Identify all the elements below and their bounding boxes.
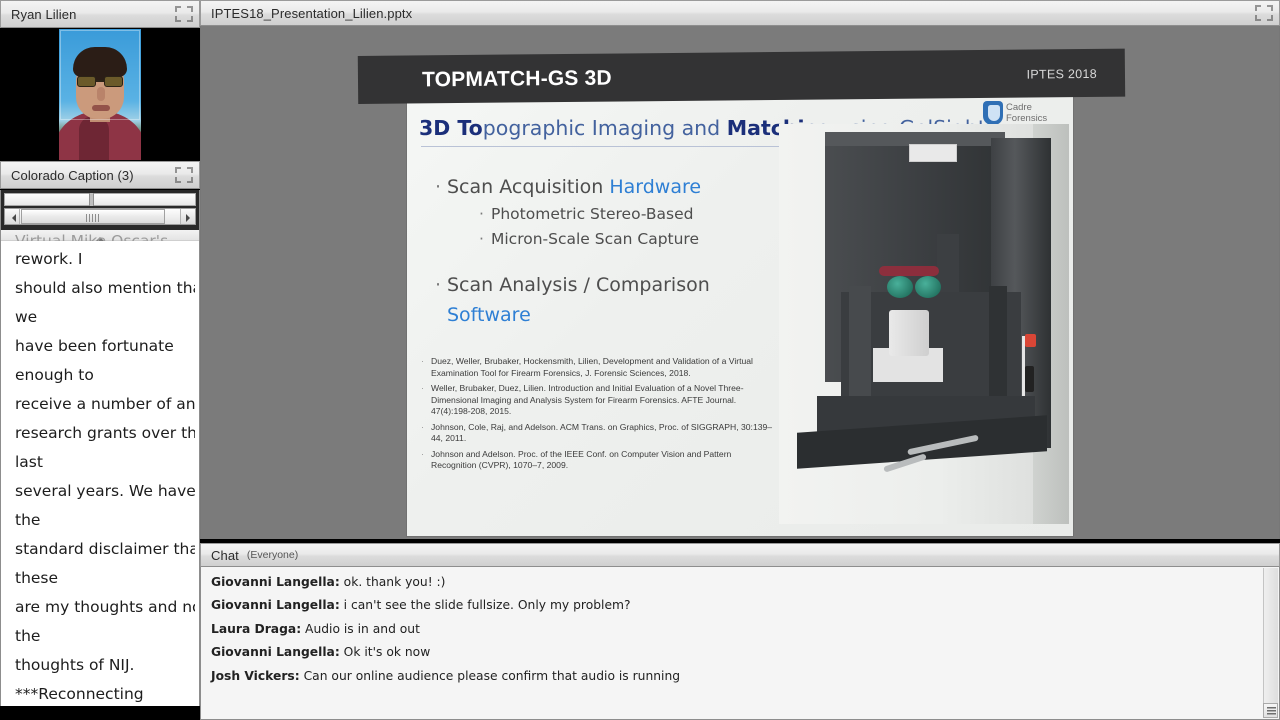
webcam-focus-box	[60, 30, 140, 120]
reference-text: Johnson and Adelson. Proc. of the IEEE C…	[431, 449, 777, 472]
slide-bullet-list: ·Scan Acquisition Hardware ·Photometric …	[435, 172, 805, 330]
left-arrow-icon[interactable]	[5, 209, 20, 224]
expand-icon[interactable]	[175, 6, 193, 22]
expand-icon[interactable]	[1255, 5, 1273, 21]
bullet-text: Scan Analysis / Comparison	[447, 274, 710, 296]
caption-pod-title: Colorado Caption (3)	[11, 168, 134, 183]
share-pod-header: IPTES18_Presentation_Lilien.pptx	[200, 0, 1280, 26]
cadre-logo-line1: Cadre	[1006, 102, 1032, 113]
chat-text: Can our online audience please confirm t…	[300, 669, 680, 683]
caption-line: thoughts of NIJ.	[15, 654, 195, 676]
caption-line: we	[15, 306, 195, 328]
chat-message: Laura Draga: Audio is in and out	[211, 622, 1263, 637]
chat-sender: Laura Draga:	[211, 622, 301, 636]
reference-text: Johnson, Cole, Raj, and Adelson. ACM Tra…	[431, 422, 777, 445]
chat-sender: Giovanni Langella:	[211, 645, 340, 659]
bullet-dot-icon: ·	[421, 356, 431, 379]
scrollbar-thumb[interactable]	[21, 209, 165, 224]
bullet-dot-icon: ·	[479, 227, 491, 252]
chat-message-area[interactable]: Giovanni Langella: ok. thank you! :) Gio…	[200, 567, 1280, 720]
bullet-dot-icon: ·	[435, 270, 447, 300]
caption-line: the	[15, 509, 195, 531]
caption-scroll-area	[0, 190, 200, 230]
video-pod: Ryan Lilien	[0, 0, 200, 160]
bullet-item: ·Scan Acquisition Hardware	[435, 172, 805, 202]
bullet-item: ·Micron-Scale Scan Capture	[479, 227, 805, 252]
video-pod-header: Ryan Lilien	[0, 0, 200, 28]
slide-banner-title: TOPMATCH-GS 3D	[422, 67, 612, 93]
bullet-item: ·Scan Analysis / Comparison Software	[435, 270, 805, 330]
slide-references: · Duez, Weller, Brubaker, Hockensmith, L…	[421, 356, 777, 476]
caption-line: rework. I	[15, 248, 195, 270]
caption-line: standard disclaimer that	[15, 538, 195, 560]
slide-banner: TOPMATCH-GS 3D IPTES 2018	[358, 49, 1125, 104]
cadre-logo-text: Cadre Forensics	[1006, 102, 1047, 124]
caption-line: receive a number of an I	[15, 393, 195, 415]
bullet-text: Micron-Scale Scan Capture	[491, 230, 699, 248]
webcam-feed	[59, 29, 141, 160]
caption-line: these	[15, 567, 195, 589]
left-column-bottom-strip	[0, 706, 200, 720]
reference-item: · Duez, Weller, Brubaker, Hockensmith, L…	[421, 356, 777, 379]
caption-slider-knob[interactable]	[89, 193, 94, 206]
caption-text-area[interactable]: Virtual Mike Oscar's rework. I should al…	[0, 230, 200, 720]
bullet-dot-icon: ·	[421, 383, 431, 418]
reference-text: Weller, Brubaker, Duez, Lilien. Introduc…	[431, 383, 777, 418]
chat-message: Josh Vickers: Can our online audience pl…	[211, 669, 1263, 684]
chat-pod-title: Chat	[211, 548, 239, 563]
gelsight-scanner-photo	[779, 124, 1069, 524]
bullet-dot-icon: ·	[435, 172, 447, 202]
caption-slider-track[interactable]	[4, 193, 196, 206]
caption-line: the	[15, 625, 195, 647]
chat-vertical-scrollbar[interactable]	[1263, 568, 1278, 718]
left-pod-column: Ryan Lilien	[0, 0, 200, 720]
caption-line: enough to	[15, 364, 195, 386]
reference-text: Duez, Weller, Brubaker, Hockensmith, Lil…	[431, 356, 777, 379]
chat-text: Audio is in and out	[301, 622, 420, 636]
share-pod: IPTES18_Presentation_Lilien.pptx TOPMATC…	[200, 0, 1280, 540]
reference-item: · Weller, Brubaker, Duez, Lilien. Introd…	[421, 383, 777, 418]
slide-heading-part1: 3D To	[419, 116, 483, 140]
presentation-stage[interactable]: TOPMATCH-GS 3D IPTES 2018 3D Topographic…	[200, 26, 1280, 539]
right-arrow-icon[interactable]	[180, 209, 195, 224]
caption-pod-header: Colorado Caption (3)	[0, 161, 200, 189]
share-pod-title: IPTES18_Presentation_Lilien.pptx	[211, 6, 412, 21]
caption-line-list: Virtual Mike Oscar's rework. I should al…	[1, 241, 200, 720]
reference-item: · Johnson and Adelson. Proc. of the IEEE…	[421, 449, 777, 472]
reference-item: · Johnson, Cole, Raj, and Adelson. ACM T…	[421, 422, 777, 445]
bullet-text: Scan Acquisition	[447, 176, 609, 198]
chat-pod-header: Chat (Everyone)	[200, 543, 1280, 567]
caption-line: last	[15, 451, 195, 473]
chat-text: i can't see the slide fullsize. Only my …	[340, 598, 631, 612]
chat-message: Giovanni Langella: ok. thank you! :)	[211, 575, 1263, 590]
bullet-item: ·Photometric Stereo-Based	[479, 202, 805, 227]
video-stage[interactable]	[0, 29, 200, 160]
bullet-text: Photometric Stereo-Based	[491, 205, 693, 223]
caption-line: should also mention that	[15, 277, 195, 299]
chat-message: Giovanni Langella: i can't see the slide…	[211, 598, 1263, 613]
caption-line: have been fortunate	[15, 335, 195, 357]
chat-text: ok. thank you! :)	[340, 575, 446, 589]
slide-canvas: 3D Topographic Imaging and Matching usin…	[407, 84, 1073, 536]
bullet-highlight: Software	[447, 304, 531, 326]
bullet-dot-icon: ·	[421, 449, 431, 472]
webinar-window: Ryan Lilien	[0, 0, 1280, 720]
chat-scope-label: (Everyone)	[247, 549, 298, 561]
chat-sender: Giovanni Langella:	[211, 598, 340, 612]
bullet-highlight: Hardware	[609, 176, 701, 198]
video-pod-title: Ryan Lilien	[11, 7, 76, 22]
caption-line: several years. We have p	[15, 480, 195, 502]
chat-text: Ok it's ok now	[340, 645, 430, 659]
bullet-dot-icon: ·	[421, 422, 431, 445]
shield-icon	[983, 101, 1003, 125]
resize-grip-icon[interactable]	[1263, 703, 1278, 718]
bullet-dot-icon: ·	[479, 202, 491, 227]
expand-icon[interactable]	[175, 167, 193, 183]
caption-line: Virtual Mike Oscar's	[15, 230, 195, 241]
slide-heading-part2: pographic Imaging and	[483, 116, 727, 140]
chat-sender: Giovanni Langella:	[211, 575, 340, 589]
chat-message-list: Giovanni Langella: ok. thank you! :) Gio…	[201, 567, 1263, 692]
caption-horizontal-scrollbar[interactable]	[4, 208, 196, 225]
chat-message: Giovanni Langella: Ok it's ok now	[211, 645, 1263, 660]
caption-line: research grants over the	[15, 422, 195, 444]
cadre-logo-line2: Forensics	[1006, 113, 1047, 124]
chat-pod: Chat (Everyone) Giovanni Langella: ok. t…	[200, 543, 1280, 720]
caption-line: ***Reconnecting	[15, 683, 195, 705]
caption-line: are my thoughts and no	[15, 596, 195, 618]
caption-pod: Colorado Caption (3) Vir	[0, 161, 200, 720]
chat-sender: Josh Vickers:	[211, 669, 300, 683]
slide-conference-label: IPTES 2018	[1027, 67, 1098, 82]
